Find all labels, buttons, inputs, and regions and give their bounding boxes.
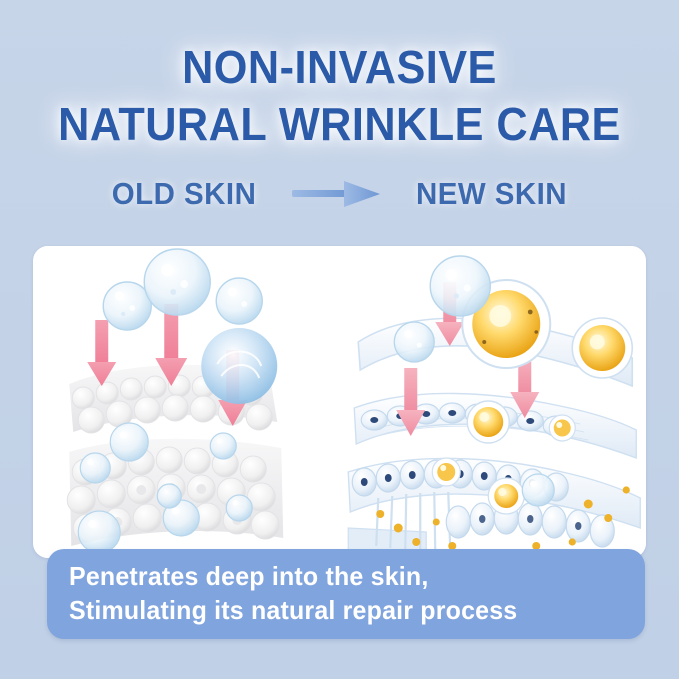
new-skin-illustration — [340, 246, 647, 558]
caption-panel: Penetrates deep into the skin, Stimulati… — [47, 549, 645, 639]
right-arrow-icon — [290, 177, 382, 211]
old-skin-label: OLD SKIN — [112, 176, 257, 212]
poster-root: NON-INVASIVE NATURAL WRINKLE CARE OLD SK… — [0, 0, 679, 679]
page-title: NON-INVASIVE NATURAL WRINKLE CARE — [0, 44, 679, 148]
comparison-labels: OLD SKIN NEW SKIN — [0, 176, 679, 212]
headline-line-2: NATURAL WRINKLE CARE — [20, 101, 658, 148]
new-skin-label: NEW SKIN — [416, 176, 567, 212]
headline-line-1: NON-INVASIVE — [20, 44, 658, 91]
illustration-card — [33, 246, 646, 558]
caption-line-1: Penetrates deep into the skin, — [69, 560, 622, 594]
old-skin-illustration — [33, 246, 340, 558]
caption-line-2: Stimulating its natural repair process — [69, 594, 622, 628]
